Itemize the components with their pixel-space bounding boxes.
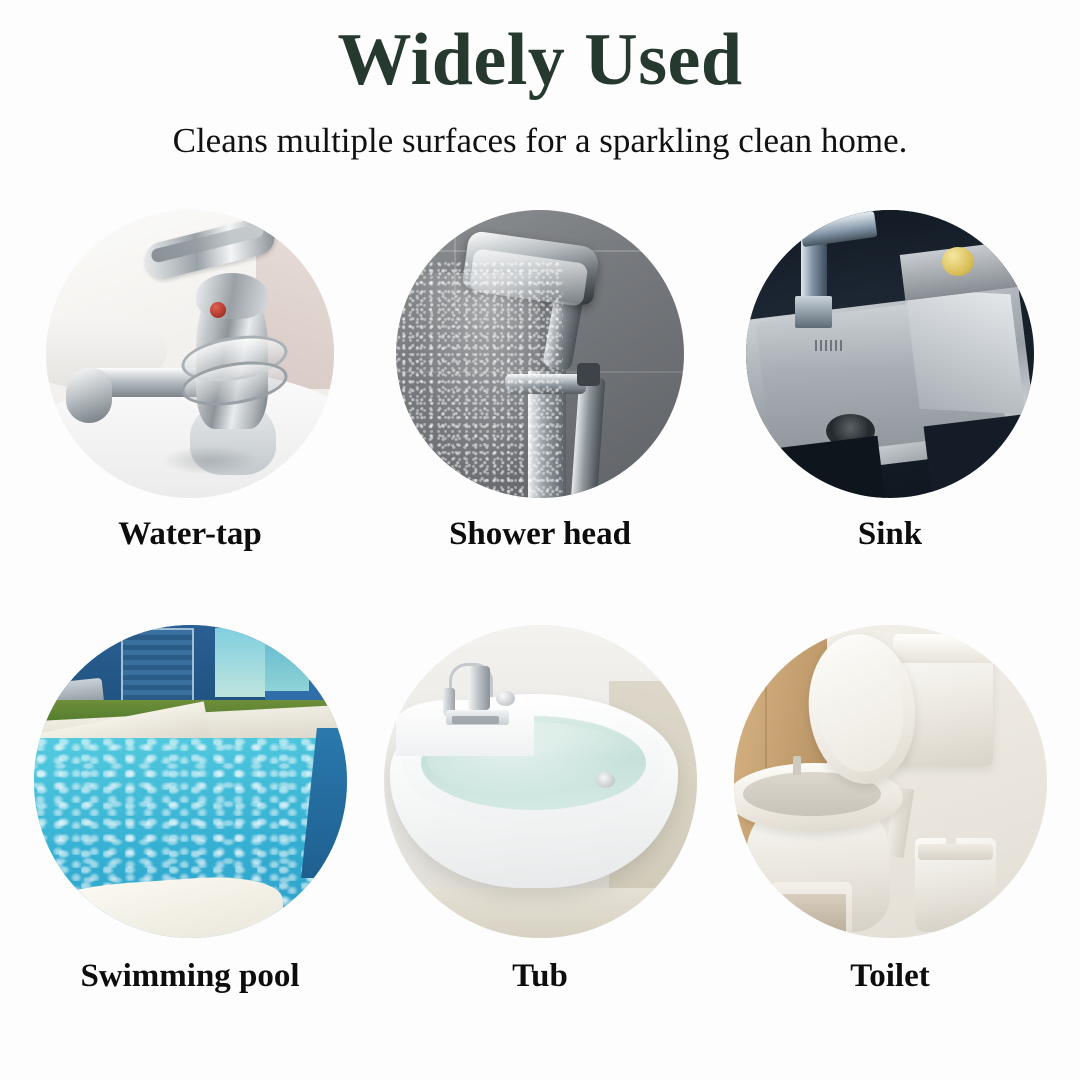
water-tap-photo: [46, 210, 334, 498]
feature-item-water-tap[interactable]: Water-tap: [15, 210, 365, 553]
feature-label-tub: Tub: [512, 958, 568, 995]
toilet-scene: [734, 625, 1047, 938]
toilet-photo: [734, 625, 1047, 938]
faucet-temperature-indicator: [210, 302, 226, 318]
toilet-floor-shadow: [734, 894, 847, 938]
sink-bowl-right-wall: [905, 288, 1025, 414]
feature-label-swimming-pool: Swimming pool: [80, 958, 299, 995]
feature-row-1: Water-tap: [0, 210, 1080, 553]
shower-head-photo: [396, 210, 684, 498]
feature-item-swimming-pool[interactable]: Swimming pool: [15, 625, 365, 995]
house-louvered-door: [121, 628, 194, 707]
sink-photo: [746, 210, 1034, 498]
feature-label-sink: Sink: [858, 516, 922, 553]
feature-label-shower-head: Shower head: [449, 516, 631, 553]
sink-scene: [746, 210, 1034, 498]
bathroom-floor-bottom: [384, 888, 697, 938]
swimming-pool-photo: [34, 625, 347, 938]
toilet-seat-hinge: [793, 756, 801, 775]
toilet-tank-lid: [893, 634, 999, 662]
bathtub-faucet-knob: [496, 691, 515, 707]
shower-holder-knob: [577, 363, 600, 386]
bathtub-control-panel-label: [452, 716, 499, 724]
tub-scene: [384, 625, 697, 938]
feature-label-toilet: Toilet: [850, 958, 929, 995]
water-spray-droplets: [396, 262, 563, 498]
feature-item-tub[interactable]: Tub: [365, 625, 715, 995]
bathtub-deck-ledge: [396, 700, 534, 756]
faucet-cap: [196, 273, 268, 319]
feature-item-sink[interactable]: Sink: [715, 210, 1065, 553]
page-subtitle: Cleans multiple surfaces for a sparkling…: [0, 122, 1080, 161]
house-window-left: [215, 628, 265, 697]
header: Widely Used Cleans multiple surfaces for…: [0, 0, 1080, 160]
feature-row-2: Swimming pool: [0, 625, 1080, 995]
shower-head-scene: [396, 210, 684, 498]
faucet-spout-end: [66, 368, 112, 423]
lemon: [942, 247, 974, 276]
sink-faucet-base: [795, 296, 832, 328]
feature-label-water-tap: Water-tap: [118, 516, 262, 553]
water-tap-scene: [46, 210, 334, 498]
feature-item-shower-head[interactable]: Shower head: [365, 210, 715, 553]
house-window-right: [265, 631, 309, 690]
page-title: Widely Used: [0, 22, 1080, 100]
faucet-shadow: [161, 446, 259, 475]
tub-photo: [384, 625, 697, 938]
bathtub-overflow-cover: [596, 772, 615, 788]
swimming-pool-scene: [34, 625, 347, 938]
feature-item-toilet[interactable]: Toilet: [715, 625, 1065, 995]
toilet-brush-holder-rim: [918, 844, 993, 860]
sink-brand-badge: [815, 340, 844, 352]
bathtub-faucet: [468, 666, 490, 710]
feature-grid: Water-tap: [0, 210, 1080, 995]
